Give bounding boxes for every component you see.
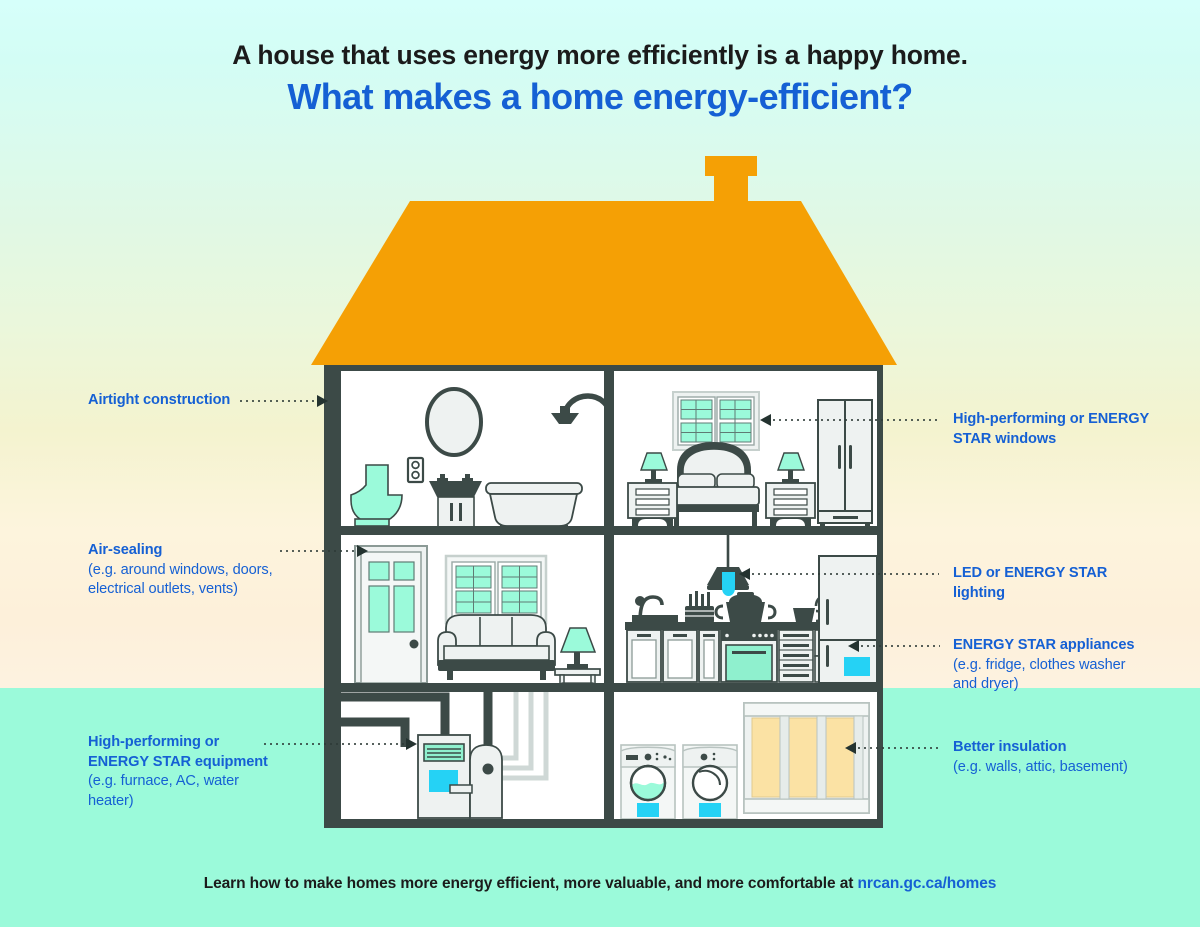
leader-dots <box>262 743 406 745</box>
leader-high-performing-equipment <box>262 738 417 750</box>
leader-air-sealing <box>278 545 368 557</box>
energy-star-label <box>637 803 659 817</box>
leader-dots <box>771 419 940 421</box>
leader-dots <box>238 400 317 402</box>
callout-subtext: (e.g. furnace, AC, water heater) <box>88 772 273 811</box>
callout-subtext: (e.g. fridge, clothes washer and dryer) <box>953 656 1168 695</box>
energy-star-label <box>699 803 721 817</box>
footer-cta: Learn how to make homes more energy effi… <box>0 875 1200 893</box>
infographic-canvas: A house that uses energy more efficientl… <box>0 0 1200 927</box>
leader-energy-star-windows <box>760 414 940 426</box>
clothes-dryer-icon <box>683 745 737 819</box>
callout-high-performing-equipment: High-performing or ENERGY STAR equipment… <box>88 733 273 811</box>
callout-air-sealing: Air-sealing (e.g. around windows, doors,… <box>88 541 293 600</box>
electrical-outlet-icon <box>408 458 423 482</box>
furnace-icon <box>418 735 470 818</box>
leader-dots <box>856 747 940 749</box>
callout-led-lighting: LED or ENERGY STAR lighting <box>953 564 1153 603</box>
callout-heading: Air-sealing <box>88 541 293 561</box>
leader-better-insulation <box>845 742 940 754</box>
chimney <box>705 156 757 208</box>
washing-machine-icon <box>621 745 675 819</box>
leader-dots <box>859 645 940 647</box>
kitchen-cabinets-left <box>627 630 719 682</box>
footer-text: Learn how to make homes more energy effi… <box>204 875 858 892</box>
callout-subtext: (e.g. around windows, doors, electrical … <box>88 561 293 600</box>
callout-heading: ENERGY STAR appliances <box>953 636 1168 656</box>
callout-heading: High-performing or ENERGY STAR equipment <box>88 733 273 772</box>
arrow-right-icon <box>406 738 417 750</box>
leader-airtight-construction <box>238 395 328 407</box>
livingroom-window-icon <box>446 556 546 623</box>
wall-insulation-icon <box>744 703 869 813</box>
callout-energy-star-appliances: ENERGY STAR appliances (e.g. fridge, clo… <box>953 636 1168 695</box>
stove-oven-icon <box>721 630 777 682</box>
callout-energy-star-windows: High-performing or ENERGY STAR windows <box>953 410 1183 449</box>
arrow-left-icon <box>848 640 859 652</box>
leader-led-lighting <box>739 568 939 580</box>
arrow-right-icon <box>317 395 328 407</box>
callout-heading: High-performing or ENERGY STAR windows <box>953 410 1183 449</box>
mirror-icon <box>427 389 481 455</box>
energy-star-label <box>844 657 870 676</box>
leader-dots <box>750 573 939 575</box>
sofa-icon <box>438 615 555 680</box>
callout-heading: Better insulation <box>953 738 1168 758</box>
callout-subtext: (e.g. walls, attic, basement) <box>953 758 1168 778</box>
arrow-left-icon <box>845 742 856 754</box>
kitchen-countertop <box>625 622 838 630</box>
arrow-right-icon <box>357 545 368 557</box>
callout-better-insulation: Better insulation (e.g. walls, attic, ba… <box>953 738 1168 777</box>
bedroom-window-icon <box>673 392 759 450</box>
callout-heading: LED or ENERGY STAR lighting <box>953 564 1153 603</box>
roof <box>311 201 897 365</box>
bathtub-icon <box>486 483 582 529</box>
front-door-icon <box>355 546 427 683</box>
leader-dots <box>278 550 357 552</box>
arrow-left-icon <box>739 568 750 580</box>
leader-energy-star-appliances <box>848 640 940 652</box>
arrow-left-icon <box>760 414 771 426</box>
footer-url-link[interactable]: nrcan.gc.ca/homes <box>858 875 997 892</box>
